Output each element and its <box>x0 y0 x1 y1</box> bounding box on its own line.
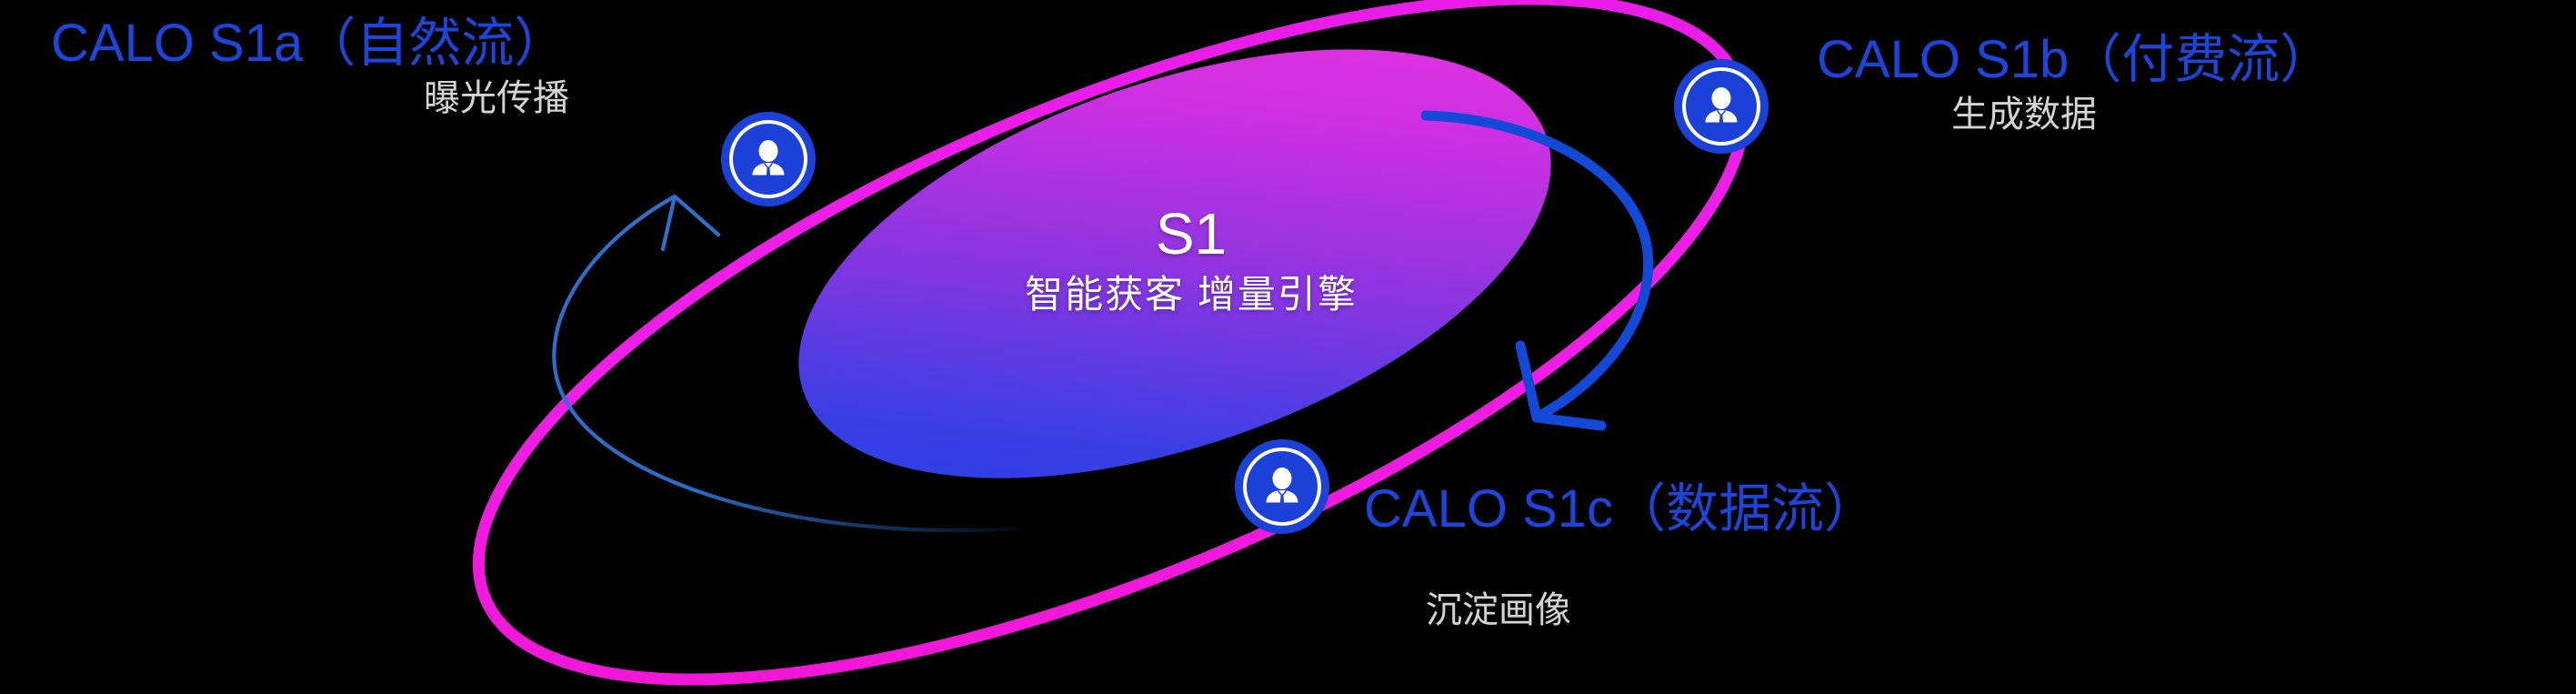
node-calo-s1b[interactable] <box>1674 59 1769 154</box>
node-ring <box>729 120 807 198</box>
node-ring <box>1243 448 1321 526</box>
orbit-graphics <box>0 0 2576 694</box>
diagram-canvas: CALO S1a（自然流） 曝光传播 CALO S1b（付费流） 生成数据 CA… <box>0 0 2576 694</box>
label-calo-s1c: CALO S1c（数据流） <box>1364 482 1877 538</box>
user-avatar-icon <box>746 136 791 182</box>
label-calo-s1b: CALO S1b（付费流） <box>1817 33 2332 88</box>
user-avatar-icon <box>1699 84 1744 129</box>
user-avatar-icon <box>1259 464 1305 509</box>
label-calo-s1a: CALO S1a（自然流） <box>51 16 566 72</box>
node-calo-s1c[interactable] <box>1235 439 1329 534</box>
sublabel-calo-s1a: 曝光传播 <box>424 79 569 117</box>
sublabel-calo-s1b: 生成数据 <box>1951 96 2097 134</box>
sublabel-calo-s1c: 沉淀画像 <box>1426 591 1571 629</box>
node-ring <box>1682 67 1760 146</box>
node-calo-s1a[interactable] <box>721 112 816 206</box>
